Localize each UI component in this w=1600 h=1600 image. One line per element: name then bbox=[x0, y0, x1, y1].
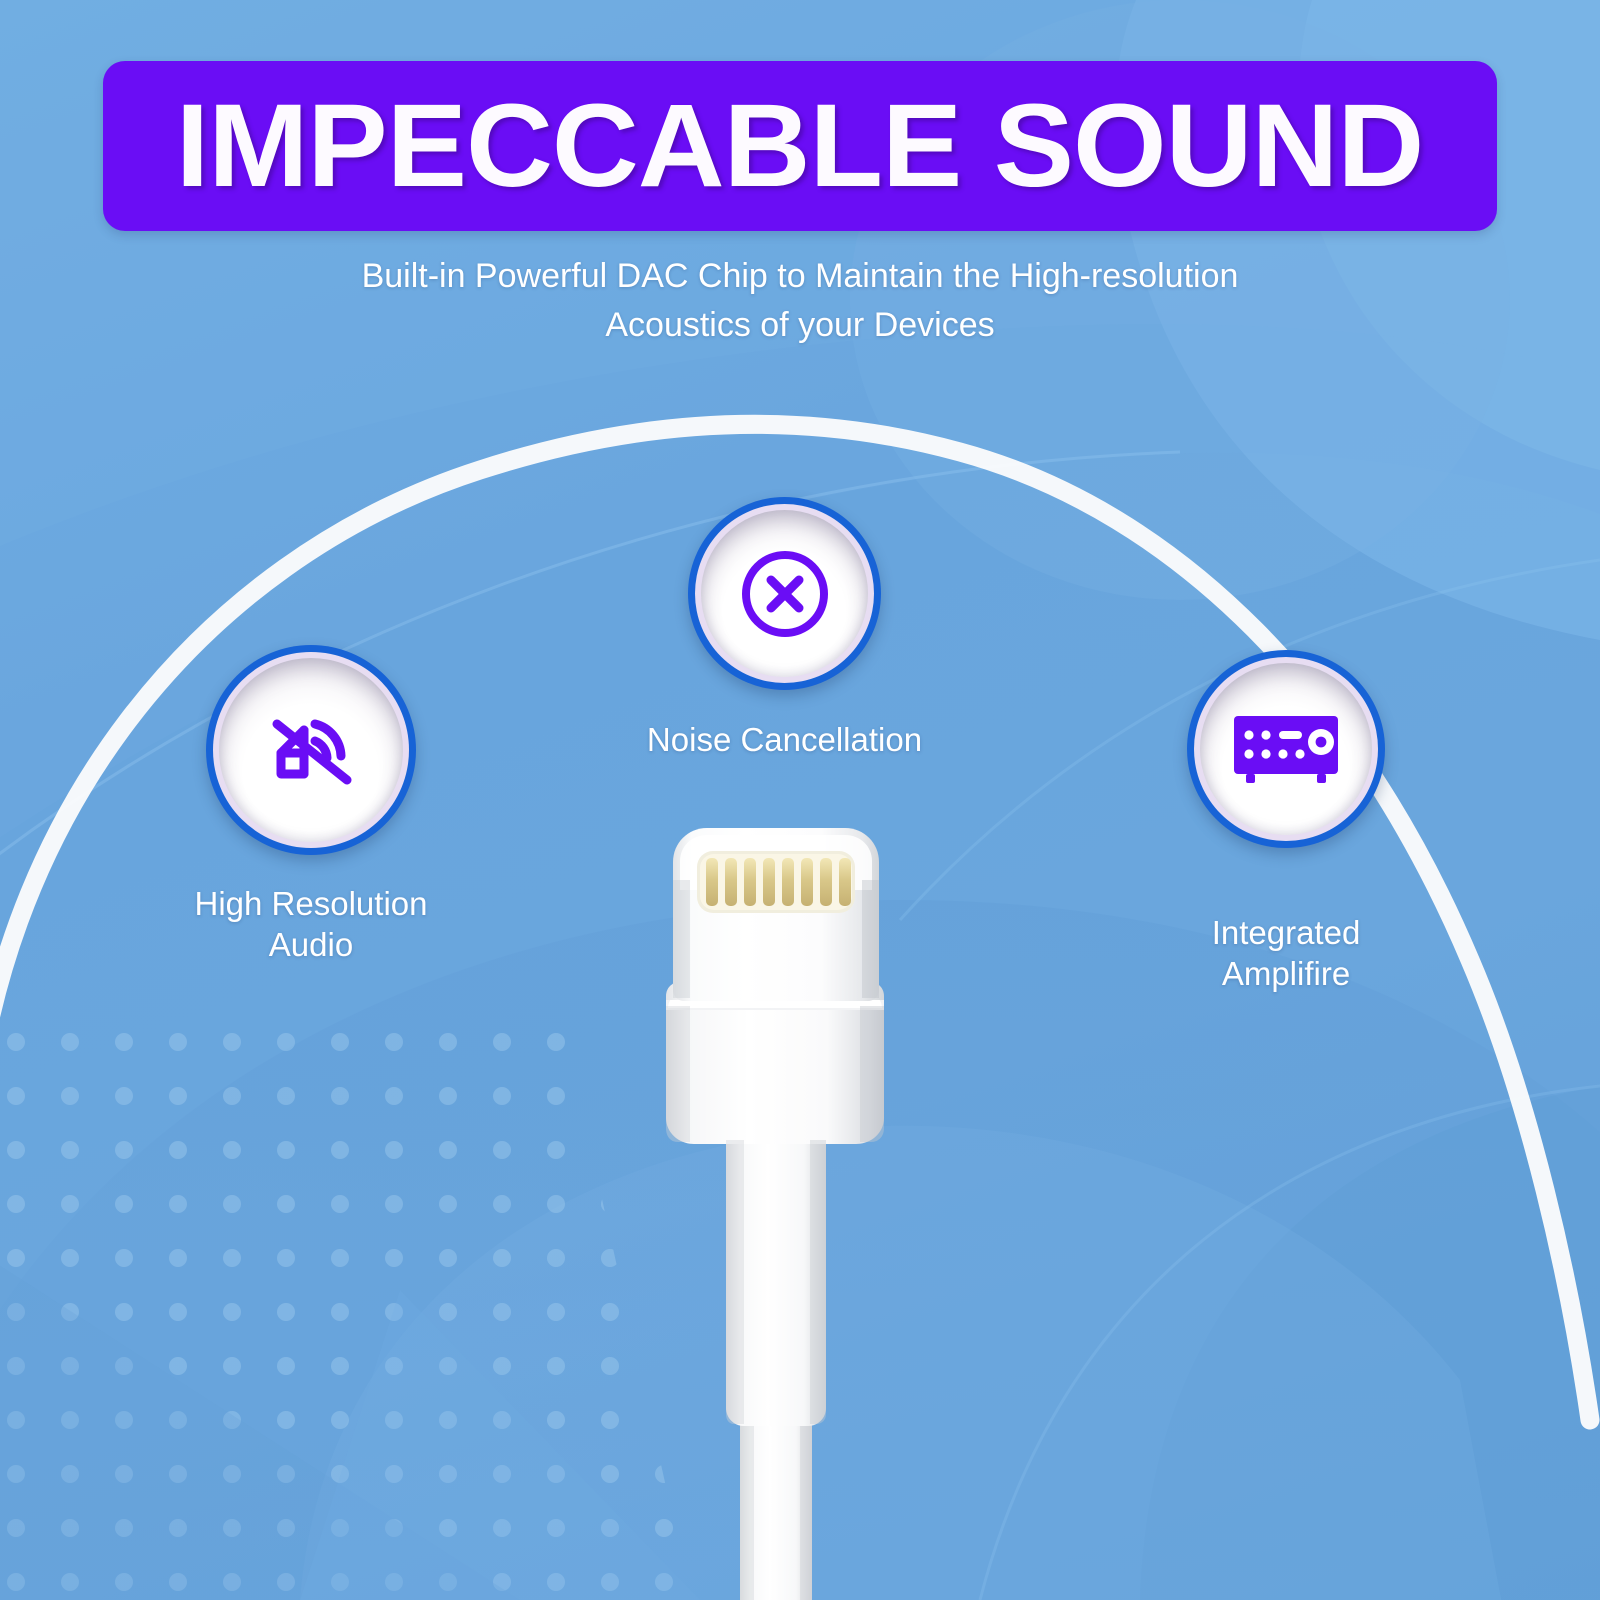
amplifier-receiver-icon bbox=[1228, 702, 1344, 796]
feature-label-line-2: Audio bbox=[269, 926, 353, 963]
bubble-face bbox=[1200, 663, 1372, 835]
feature-integrated-amplifier[interactable]: Integrated Amplifire bbox=[1187, 650, 1385, 848]
feature-label-line-1: Noise Cancellation bbox=[647, 721, 922, 758]
feature-label: Noise Cancellation bbox=[647, 719, 922, 760]
subtitle-line-1: Built-in Powerful DAC Chip to Maintain t… bbox=[362, 257, 1239, 295]
feature-label-line-1: Integrated bbox=[1212, 914, 1361, 951]
circle-x-icon bbox=[733, 542, 837, 646]
feature-icon-bubble[interactable] bbox=[1187, 650, 1385, 848]
feature-label: High Resolution Audio bbox=[195, 883, 428, 966]
muted-speaker-waves-icon bbox=[255, 694, 367, 806]
page-title: IMPECCABLE SOUND bbox=[176, 87, 1424, 205]
feature-label: Integrated Amplifire bbox=[1212, 912, 1361, 995]
infographic-canvas: IMPECCABLE SOUND Built-in Powerful DAC C… bbox=[0, 0, 1600, 1600]
feature-icon-bubble[interactable] bbox=[206, 645, 416, 855]
bubble-face bbox=[701, 510, 868, 677]
feature-noise-cancellation[interactable]: Noise Cancellation bbox=[688, 497, 881, 690]
feature-icon-bubble[interactable] bbox=[688, 497, 881, 690]
feature-label-line-1: High Resolution bbox=[195, 885, 428, 922]
header-badge: IMPECCABLE SOUND bbox=[103, 61, 1497, 231]
feature-high-resolution-audio[interactable]: High Resolution Audio bbox=[206, 645, 416, 855]
bubble-face bbox=[219, 658, 403, 842]
feature-label-line-2: Amplifire bbox=[1222, 955, 1350, 992]
subtitle-line-2: Acoustics of your Devices bbox=[240, 301, 1360, 350]
subtitle: Built-in Powerful DAC Chip to Maintain t… bbox=[0, 252, 1600, 351]
